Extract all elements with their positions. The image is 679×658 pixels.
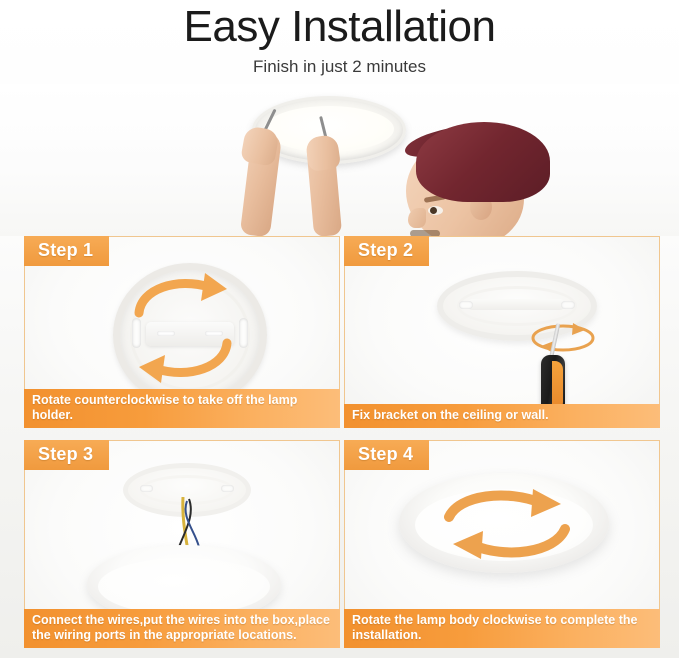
hero-installation-photo — [0, 84, 679, 236]
step-panel-3: Connect the wires,put the wires into the… — [24, 440, 340, 648]
bracket-slot-right — [561, 301, 575, 309]
clockwise-arrow-icon — [433, 487, 581, 561]
step-2-caption: Fix bracket on the ceiling or wall. — [344, 404, 660, 428]
counterclockwise-arrow-icon — [127, 273, 239, 383]
page-title: Easy Installation — [0, 0, 679, 52]
person-eye — [428, 206, 443, 215]
header: Easy Installation Finish in just 2 minut… — [0, 0, 679, 86]
steps-grid: Rotate counterclockwise to take off the … — [0, 232, 679, 652]
step-panel-1: Rotate counterclockwise to take off the … — [24, 236, 340, 428]
infographic-page: Easy Installation Finish in just 2 minut… — [0, 0, 679, 658]
bracket-slot-right — [239, 318, 248, 348]
step-3-badge: Step 3 — [24, 440, 109, 470]
person-nose — [408, 208, 426, 228]
step-3-caption: Connect the wires,put the wires into the… — [24, 609, 340, 648]
step-4-caption: Rotate the lamp body clockwise to comple… — [344, 609, 660, 648]
screw-rotation-arrow-icon — [527, 321, 599, 355]
bracket-slot-left — [140, 485, 153, 492]
bracket-crossbar — [467, 299, 565, 310]
step-4-badge: Step 4 — [344, 440, 429, 470]
step-panel-2: Fix bracket on the ceiling or wall. Step… — [344, 236, 660, 428]
step-2-badge: Step 2 — [344, 236, 429, 266]
step-1-caption: Rotate counterclockwise to take off the … — [24, 389, 340, 428]
page-subtitle: Finish in just 2 minutes — [0, 52, 679, 78]
baseball-cap-icon — [416, 122, 550, 202]
bracket-slot-left — [459, 301, 473, 309]
step-1-badge: Step 1 — [24, 236, 109, 266]
step-panel-4: Rotate the lamp body clockwise to comple… — [344, 440, 660, 648]
bracket-slot-right — [221, 485, 234, 492]
